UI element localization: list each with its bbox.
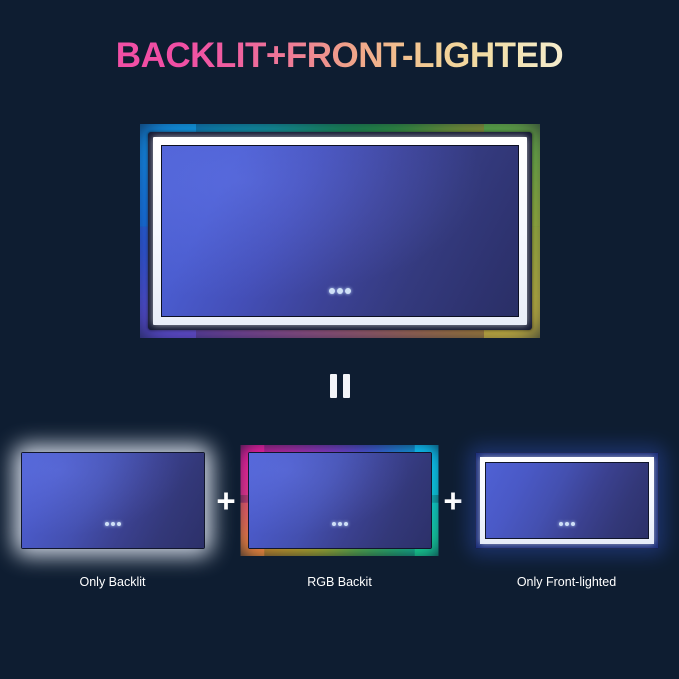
thumb-touch-button-group[interactable] — [105, 522, 121, 526]
hero-mirror-product-image — [148, 132, 532, 330]
touch-button-icon[interactable] — [329, 288, 335, 294]
touch-button-icon[interactable] — [344, 522, 348, 526]
touch-button-icon[interactable] — [105, 522, 109, 526]
thumb-mirror-frame — [475, 452, 659, 549]
comparison-row: Only Backlit + RGB Backit + — [0, 452, 679, 612]
comparison-label-only-front-lighted: Only Front-lighted — [517, 575, 616, 589]
touch-button-icon[interactable] — [117, 522, 121, 526]
plus-operator-2: + — [438, 452, 468, 549]
hero-mirror-frame — [148, 132, 532, 330]
touch-button-icon[interactable] — [559, 522, 563, 526]
comparison-item-only-front-lighted: Only Front-lighted — [468, 452, 665, 589]
thumb-stage-only-front-lighted — [475, 452, 659, 549]
comparison-item-only-backlit: Only Backlit — [14, 452, 211, 589]
touch-button-icon[interactable] — [337, 288, 343, 294]
touch-button-icon[interactable] — [338, 522, 342, 526]
comparison-item-rgb-backlit: RGB Backit — [241, 452, 438, 589]
touch-button-icon[interactable] — [345, 288, 351, 294]
thumb-mirror-frame — [248, 452, 432, 549]
equals-bar — [343, 374, 350, 398]
hero-touch-button-group[interactable] — [329, 288, 351, 294]
comparison-label-rgb-backlit: RGB Backit — [307, 575, 372, 589]
thumb-touch-button-group[interactable] — [559, 522, 575, 526]
thumb-touch-button-group[interactable] — [332, 522, 348, 526]
plus-operator-glyph: + — [216, 484, 235, 517]
thumb-mirror-glass — [485, 462, 649, 539]
thumb-mirror-glass — [248, 452, 432, 549]
touch-button-icon[interactable] — [565, 522, 569, 526]
comparison-label-only-backlit: Only Backlit — [80, 575, 146, 589]
page-title-container: BACKLIT+FRONT-LIGHTED — [0, 36, 679, 76]
thumb-mirror-glass — [21, 452, 205, 549]
equals-operator — [0, 374, 679, 398]
plus-operator-glyph: + — [443, 484, 462, 517]
page-title: BACKLIT+FRONT-LIGHTED — [116, 36, 563, 76]
touch-button-icon[interactable] — [571, 522, 575, 526]
thumb-stage-only-backlit — [21, 452, 205, 549]
touch-button-icon[interactable] — [332, 522, 336, 526]
thumb-mirror-frame — [21, 452, 205, 549]
touch-button-icon[interactable] — [111, 522, 115, 526]
plus-operator-1: + — [211, 452, 241, 549]
thumb-stage-rgb-backlit — [248, 452, 432, 549]
equals-bar — [330, 374, 337, 398]
